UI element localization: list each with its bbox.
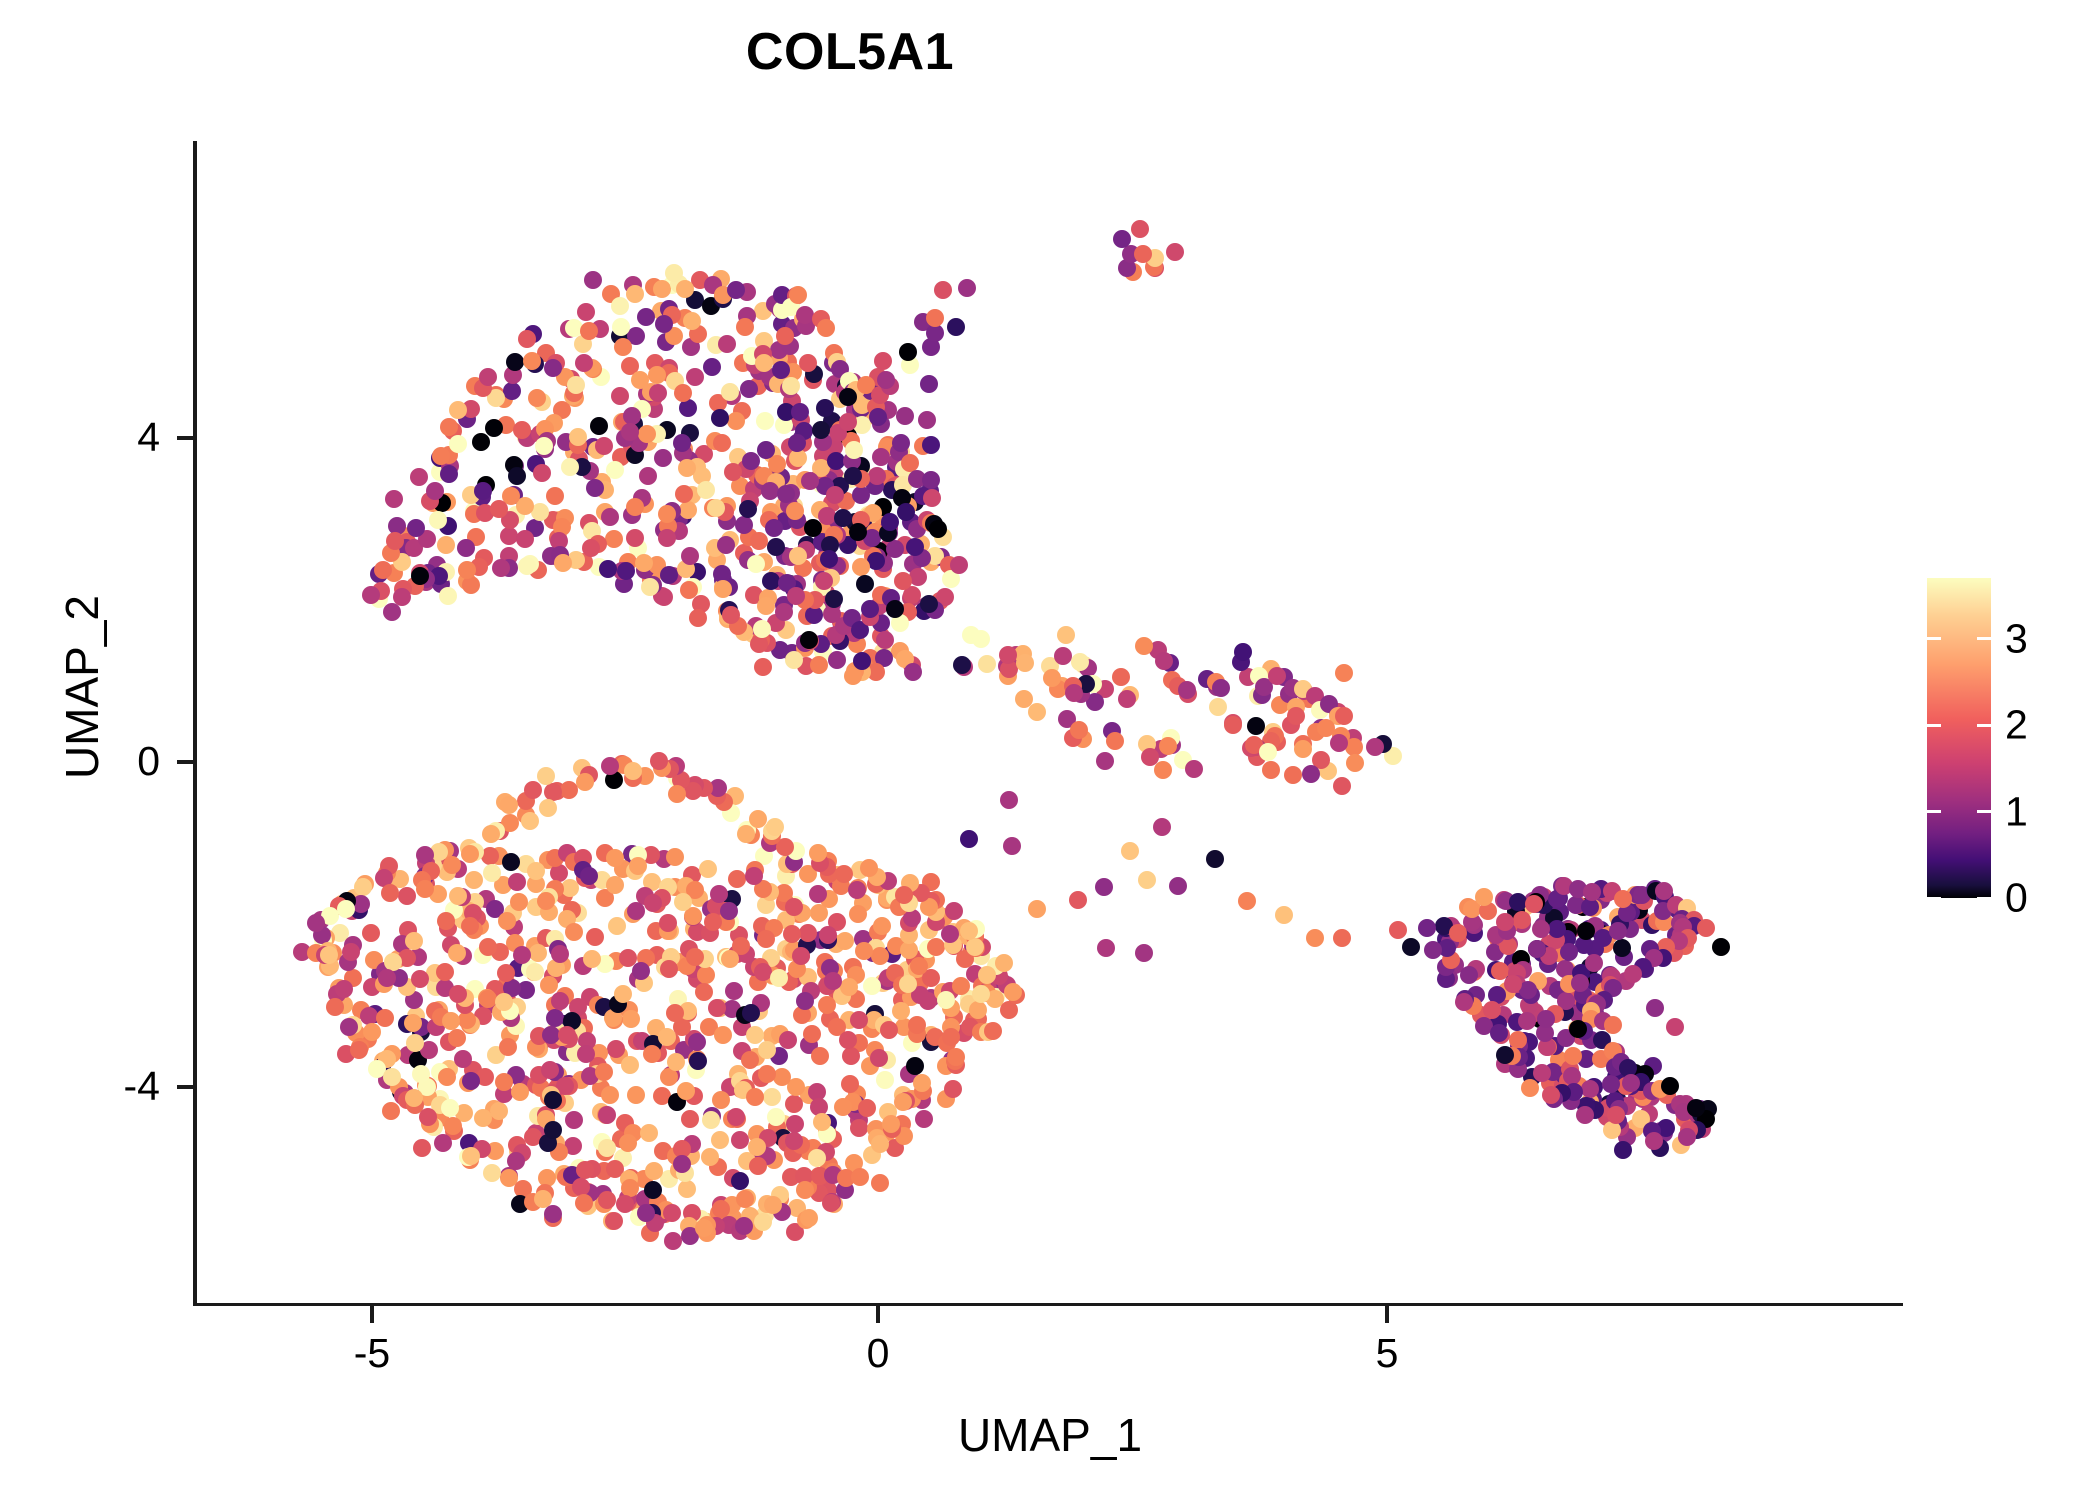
scatter-point: [1131, 220, 1149, 238]
scatter-point: [851, 1168, 869, 1186]
scatter-point: [1121, 842, 1139, 860]
scatter-point: [678, 459, 696, 477]
scatter-point: [811, 1047, 829, 1065]
scatter-point: [978, 966, 996, 984]
colorbar-tick-1: [1927, 810, 1941, 813]
scatter-point: [710, 885, 728, 903]
scatter-point: [1138, 871, 1156, 889]
scatter-point: [1389, 921, 1407, 939]
scatter-point: [1335, 707, 1353, 725]
scatter-point: [863, 977, 881, 995]
scatter-point: [786, 1115, 804, 1133]
scatter-point: [419, 1108, 437, 1126]
scatter-point: [1065, 684, 1083, 702]
scatter-point: [1206, 850, 1224, 868]
scatter-point: [892, 1002, 910, 1020]
scatter-point: [479, 368, 497, 386]
page-title: COL5A1: [0, 22, 1700, 82]
scatter-point: [1712, 938, 1730, 956]
scatter-point: [754, 1213, 772, 1231]
scatter-point: [462, 1147, 480, 1165]
scatter-point: [660, 960, 678, 978]
scatter-point: [606, 876, 624, 894]
scatter-point: [1460, 966, 1478, 984]
scatter-point: [500, 527, 518, 545]
colorbar-tick-1: [1977, 810, 1991, 813]
scatter-point: [852, 486, 870, 504]
x-tick-mark-5: [1385, 1306, 1389, 1323]
scatter-point: [765, 519, 783, 537]
scatter-point: [1532, 920, 1550, 938]
scatter-point: [495, 1073, 513, 1091]
scatter-point: [637, 1204, 655, 1222]
scatter-point: [828, 651, 846, 669]
scatter-point: [1604, 1016, 1622, 1034]
scatter-point: [978, 655, 996, 673]
scatter-point: [712, 1091, 730, 1109]
scatter-point: [658, 505, 676, 523]
scatter-point: [1155, 652, 1173, 670]
scatter-point: [654, 449, 672, 467]
scatter-point: [668, 785, 686, 803]
scatter-point: [611, 297, 629, 315]
scatter-point: [754, 658, 772, 676]
scatter-point: [1003, 837, 1021, 855]
scatter-point: [521, 812, 539, 830]
scatter-point: [1247, 717, 1265, 735]
scatter-point: [483, 864, 501, 882]
scatter-point: [969, 1001, 987, 1019]
scatter-point: [800, 1209, 818, 1227]
scatter-point: [1262, 761, 1280, 779]
scatter-point: [363, 1023, 381, 1041]
scatter-point: [728, 870, 746, 888]
scatter-point: [659, 914, 677, 932]
scatter-point: [614, 985, 632, 1003]
scatter-point: [629, 857, 647, 875]
scatter-point: [666, 848, 684, 866]
scatter-point: [850, 1119, 868, 1137]
scatter-point: [513, 946, 531, 964]
scatter-point: [995, 954, 1013, 972]
scatter-point: [934, 281, 952, 299]
scatter-point: [782, 377, 800, 395]
scatter-point: [727, 412, 745, 430]
colorbar-gradient: [1927, 578, 1991, 898]
scatter-point: [398, 887, 416, 905]
scatter-point: [404, 1014, 422, 1032]
scatter-point: [650, 752, 668, 770]
y-tick-mark-0: [177, 760, 194, 764]
scatter-point: [1678, 1128, 1696, 1146]
scatter-point: [904, 663, 922, 681]
scatter-point: [809, 885, 827, 903]
scatter-point: [746, 1026, 764, 1044]
scatter-point: [920, 595, 938, 613]
scatter-point: [1154, 761, 1172, 779]
scatter-point: [644, 1181, 662, 1199]
scatter-point: [689, 609, 707, 627]
scatter-point: [1576, 1106, 1594, 1124]
scatter-point: [839, 413, 857, 431]
scatter-point: [1069, 891, 1087, 909]
feature-plot-figure: COL5A1 -5 0 5 4 0 -4 UMAP_1 UMAP_2 3210: [0, 0, 2100, 1500]
scatter-point: [510, 893, 528, 911]
scatter-point: [886, 540, 904, 558]
y-axis-label: UMAP_2: [55, 487, 109, 887]
scatter-point: [984, 1022, 1002, 1040]
scatter-point: [495, 993, 513, 1011]
scatter-point: [1287, 707, 1305, 725]
scatter-point: [533, 464, 551, 482]
scatter-point: [861, 600, 879, 618]
x-tick-mark-0: [876, 1306, 880, 1323]
scatter-point: [1577, 922, 1595, 940]
scatter-point: [958, 279, 976, 297]
x-tick-label-5: 5: [1327, 1330, 1447, 1377]
scatter-point: [458, 561, 476, 579]
scatter-point: [619, 1134, 637, 1152]
scatter-point: [703, 358, 721, 376]
scatter-point: [511, 1083, 529, 1101]
scatter-point: [1169, 877, 1187, 895]
scatter-point: [449, 985, 467, 1003]
scatter-point: [922, 436, 940, 454]
scatter-point: [910, 957, 928, 975]
scatter-point: [416, 880, 434, 898]
scatter-point: [516, 530, 534, 548]
scatter-point: [1585, 954, 1603, 972]
scatter-point: [438, 1068, 456, 1086]
scatter-point: [1449, 924, 1467, 942]
scatter-point: [1569, 1020, 1587, 1038]
scatter-point: [714, 1026, 732, 1044]
scatter-point: [697, 481, 715, 499]
scatter-point: [727, 1108, 745, 1126]
scatter-point: [757, 597, 775, 615]
scatter-point: [800, 631, 818, 649]
scatter-point: [785, 1132, 803, 1150]
scatter-point: [1135, 637, 1153, 655]
scatter-point: [1097, 939, 1115, 957]
scatter-point: [721, 950, 739, 968]
scatter-point: [786, 502, 804, 520]
scatter-point: [580, 867, 598, 885]
scatter-point: [638, 425, 656, 443]
scatter-point: [527, 862, 545, 880]
scatter-point: [1583, 883, 1601, 901]
scatter-point: [908, 1016, 926, 1034]
scatter-point: [1496, 1046, 1514, 1064]
scatter-point: [350, 1041, 368, 1059]
scatter-point: [565, 1111, 583, 1129]
scatter-point: [601, 508, 619, 526]
scatter-point: [664, 1232, 682, 1250]
scatter-point: [575, 354, 593, 372]
scatter-point: [906, 538, 924, 556]
scatter-point: [789, 286, 807, 304]
scatter-point: [1070, 721, 1088, 739]
scatter-point: [383, 603, 401, 621]
scatter-point: [739, 500, 757, 518]
scatter-point: [1418, 919, 1436, 937]
scatter-point: [449, 435, 467, 453]
scatter-point: [337, 900, 355, 918]
scatter-point: [779, 1031, 797, 1049]
scatter-point: [1294, 740, 1312, 758]
scatter-point: [658, 529, 676, 547]
scatter-point: [412, 1065, 430, 1083]
scatter-point: [714, 580, 732, 598]
scatter-point: [653, 280, 671, 298]
scatter-point: [376, 1009, 394, 1027]
scatter-point: [1209, 698, 1227, 716]
scatter-point: [796, 992, 814, 1010]
scatter-point: [544, 359, 562, 377]
scatter-point: [674, 893, 692, 911]
scatter-point: [462, 1072, 480, 1090]
scatter-point: [605, 1212, 623, 1230]
scatter-point: [686, 948, 704, 966]
scatter-point: [876, 1071, 894, 1089]
scatter-point: [740, 380, 758, 398]
scatter-point: [382, 1102, 400, 1120]
scatter-point: [681, 547, 699, 565]
scatter-point: [777, 485, 795, 503]
scatter-point: [677, 1082, 695, 1100]
scatter-point: [381, 884, 399, 902]
scatter-point: [1614, 1141, 1632, 1159]
scatter-point: [770, 969, 788, 987]
scatter-point: [749, 810, 767, 828]
scatter-point: [1645, 1132, 1663, 1150]
scatter-point: [906, 1057, 924, 1075]
scatter-point: [599, 560, 617, 578]
scatter-point: [1028, 900, 1046, 918]
scatter-point: [605, 530, 623, 548]
scatter-point: [405, 1089, 423, 1107]
scatter-point: [1697, 919, 1715, 937]
scatter-point: [595, 1063, 613, 1081]
scatter-point: [731, 1172, 749, 1190]
scatter-point: [1533, 1064, 1551, 1082]
scatter-point: [667, 1053, 685, 1071]
scatter-point: [622, 1010, 640, 1028]
scatter-point: [1333, 929, 1351, 947]
scatter-point: [1475, 888, 1493, 906]
scatter-point: [546, 487, 564, 505]
colorbar-tick-label-2: 2: [2005, 702, 2028, 749]
scatter-point: [1113, 230, 1131, 248]
scatter-point: [444, 1117, 462, 1135]
scatter-point: [1622, 1074, 1640, 1092]
scatter-point: [1112, 668, 1130, 686]
scatter-point: [606, 461, 624, 479]
scatter-point: [655, 315, 673, 333]
scatter-point: [1402, 938, 1420, 956]
scatter-point: [1153, 818, 1171, 836]
scatter-point: [871, 1174, 889, 1192]
scatter-point: [724, 463, 742, 481]
scatter-point: [1646, 999, 1664, 1017]
scatter-point: [1106, 732, 1124, 750]
x-tick-mark--5: [370, 1306, 374, 1323]
scatter-point: [513, 421, 531, 439]
scatter-point: [763, 1088, 781, 1106]
scatter-point: [1496, 913, 1514, 931]
scatter-points-layer: [197, 141, 1903, 1303]
scatter-point: [449, 887, 467, 905]
scatter-point: [539, 799, 557, 817]
scatter-point: [354, 878, 372, 896]
y-tick-label--4: -4: [0, 1063, 160, 1110]
scatter-point: [577, 1045, 595, 1063]
scatter-point: [648, 366, 666, 384]
scatter-point: [880, 1021, 898, 1039]
scatter-point: [1185, 760, 1203, 778]
scatter-point: [717, 536, 735, 554]
scatter-point: [787, 587, 805, 605]
scatter-point: [1483, 1001, 1501, 1019]
scatter-point: [688, 1033, 706, 1051]
scatter-point: [465, 871, 483, 889]
scatter-point: [815, 572, 833, 590]
scatter-point: [663, 1204, 681, 1222]
colorbar-tick-3: [1927, 637, 1941, 640]
scatter-point: [479, 938, 497, 956]
scatter-point: [386, 532, 404, 550]
scatter-point: [920, 375, 938, 393]
scatter-point: [792, 947, 810, 965]
scatter-point: [918, 411, 936, 429]
scatter-point: [915, 1110, 933, 1128]
scatter-point: [699, 860, 717, 878]
scatter-point: [440, 418, 458, 436]
scatter-point: [731, 1131, 749, 1149]
scatter-point: [871, 947, 889, 965]
scatter-point: [1366, 738, 1384, 756]
scatter-point: [834, 1098, 852, 1116]
scatter-point: [608, 917, 626, 935]
scatter-point: [551, 945, 569, 963]
scatter-point: [871, 1135, 889, 1153]
scatter-point: [1016, 654, 1034, 672]
scatter-point: [439, 587, 457, 605]
scatter-point: [826, 486, 844, 504]
scatter-point: [1346, 754, 1364, 772]
scatter-point: [812, 421, 830, 439]
scatter-point: [583, 950, 601, 968]
scatter-point: [1054, 647, 1072, 665]
scatter-point: [595, 437, 613, 455]
scatter-point: [834, 509, 852, 527]
scatter-point: [735, 1217, 753, 1235]
scatter-point: [1284, 766, 1302, 784]
scatter-point: [461, 845, 479, 863]
scatter-point: [844, 467, 862, 485]
scatter-point: [966, 938, 984, 956]
scatter-point: [711, 1131, 729, 1149]
scatter-point: [1234, 643, 1252, 661]
scatter-point: [1224, 716, 1242, 734]
scatter-point: [411, 970, 429, 988]
y-tick-mark--4: [177, 1085, 194, 1089]
scatter-point: [436, 963, 454, 981]
scatter-point: [457, 539, 475, 557]
scatter-point: [791, 403, 809, 421]
scatter-point: [681, 1110, 699, 1128]
scatter-point: [1542, 1086, 1560, 1104]
scatter-point: [507, 1152, 525, 1170]
scatter-point: [580, 322, 598, 340]
scatter-point: [720, 902, 738, 920]
scatter-point: [335, 980, 353, 998]
x-axis-label: UMAP_1: [197, 1408, 1903, 1462]
scatter-point: [895, 886, 913, 904]
scatter-point: [437, 912, 455, 930]
y-tick-label-4: 4: [0, 414, 160, 461]
scatter-point: [1268, 667, 1286, 685]
scatter-point: [820, 550, 838, 568]
scatter-point: [643, 1045, 661, 1063]
scatter-point: [926, 309, 944, 327]
scatter-point: [499, 1038, 517, 1056]
x-tick-label--5: -5: [312, 1330, 432, 1377]
scatter-point: [849, 905, 867, 923]
scatter-point: [960, 830, 978, 848]
scatter-point: [874, 352, 892, 370]
scatter-point: [868, 467, 886, 485]
scatter-point: [639, 467, 657, 485]
scatter-point: [378, 969, 396, 987]
scatter-point: [835, 865, 853, 883]
scatter-point: [576, 773, 594, 791]
colorbar-tick-label-1: 1: [2005, 788, 2028, 835]
scatter-point: [626, 498, 644, 516]
scatter-point: [999, 646, 1017, 664]
scatter-point: [808, 1149, 826, 1167]
scatter-point: [1071, 653, 1089, 671]
scatter-point: [1424, 941, 1442, 959]
scatter-point: [621, 423, 639, 441]
scatter-point: [882, 1115, 900, 1133]
scatter-point: [1166, 243, 1184, 261]
scatter-point: [569, 428, 587, 446]
scatter-point: [796, 1181, 814, 1199]
scatter-point: [482, 825, 500, 843]
scatter-point: [508, 467, 526, 485]
scatter-point: [741, 1051, 759, 1069]
scatter-point: [490, 1102, 508, 1120]
scatter-point: [326, 998, 344, 1016]
scatter-point: [1518, 1012, 1536, 1030]
scatter-point: [702, 1111, 720, 1129]
scatter-point: [947, 1048, 965, 1066]
scatter-point: [909, 568, 927, 586]
scatter-point: [1028, 703, 1046, 721]
scatter-point: [1275, 906, 1293, 924]
scatter-point: [757, 441, 775, 459]
scatter-point: [1537, 1010, 1555, 1028]
colorbar-legend: 3210: [1927, 578, 1991, 898]
scatter-point: [841, 1075, 859, 1093]
scatter-point: [899, 975, 917, 993]
scatter-point: [972, 630, 990, 648]
scatter-point: [718, 335, 736, 353]
colorbar-tick-label-3: 3: [2005, 615, 2028, 662]
scatter-point: [611, 387, 629, 405]
scatter-point: [624, 762, 642, 780]
